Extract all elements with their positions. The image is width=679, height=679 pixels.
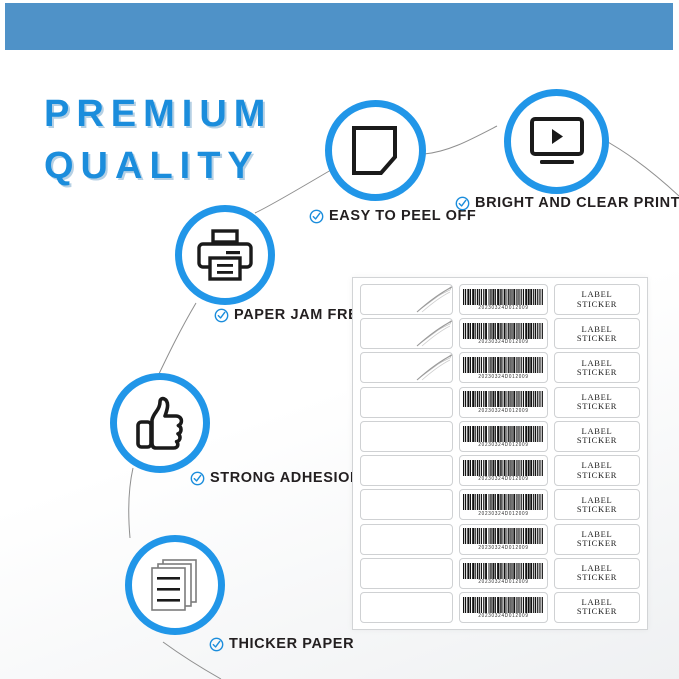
barcode-label-cell[interactable]: 20230324D012009	[459, 387, 548, 418]
barcode-image	[463, 494, 544, 510]
label-row: 20230324D012009LABELSTICKER	[360, 387, 640, 418]
blank-label-cell[interactable]	[360, 284, 453, 315]
barcode-number: 20230324D012009	[478, 613, 528, 619]
blank-label-cell[interactable]	[360, 421, 453, 452]
page-title: PREMIUM QUALITY	[44, 88, 374, 192]
peel-corner-icon	[406, 352, 452, 382]
blank-label-cell[interactable]	[360, 558, 453, 589]
blank-label-cell[interactable]	[360, 352, 453, 383]
check-circle-icon	[190, 471, 205, 486]
sticker-line-2: STICKER	[577, 436, 617, 445]
barcode-image	[463, 597, 544, 613]
barcode-number: 20230324D012009	[478, 579, 528, 585]
barcode-label-cell[interactable]: 20230324D012009	[459, 421, 548, 452]
infographic-canvas: PREMIUM QUALITY EASY TO PEEL OFF	[0, 0, 679, 679]
label-row: 20230324D012009LABELSTICKER	[360, 284, 640, 315]
barcode-number: 20230324D012009	[478, 544, 528, 550]
feature-circle-bright-and-clear-printing	[504, 89, 609, 194]
label-row: 20230324D012009LABELSTICKER	[360, 421, 640, 452]
barcode-number: 20230324D012009	[478, 476, 528, 482]
text-label-cell[interactable]: LABELSTICKER	[554, 352, 640, 383]
feature-circle-paper-jam-free	[175, 205, 275, 305]
label-row: 20230324D012009LABELSTICKER	[360, 592, 640, 623]
text-label-cell[interactable]: LABELSTICKER	[554, 284, 640, 315]
check-circle-icon	[209, 637, 224, 652]
text-label-cell[interactable]: LABELSTICKER	[554, 455, 640, 486]
feature-circle-strong-adhesion	[110, 373, 210, 473]
blank-label-cell[interactable]	[360, 455, 453, 486]
sticker-line-2: STICKER	[577, 607, 617, 616]
sticker-line-2: STICKER	[577, 573, 617, 582]
barcode-image	[463, 460, 544, 476]
check-circle-icon	[455, 196, 470, 211]
text-label-cell[interactable]: LABELSTICKER	[554, 387, 640, 418]
barcode-label-cell[interactable]: 20230324D012009	[459, 524, 548, 555]
peel-corner-icon	[406, 318, 452, 348]
text-label-cell[interactable]: LABELSTICKER	[554, 489, 640, 520]
thumbs-up-icon	[131, 396, 189, 450]
feature-circle-easy-to-peel-off	[325, 100, 426, 201]
barcode-number: 20230324D012009	[478, 339, 528, 345]
feature-label-text: PAPER JAM FREE	[234, 307, 369, 323]
barcode-image	[463, 323, 544, 339]
barcode-label-cell[interactable]: 20230324D012009	[459, 592, 548, 623]
blank-label-cell[interactable]	[360, 524, 453, 555]
peel-sticker-icon	[348, 123, 404, 179]
feature-label-easy-to-peel-off: EASY TO PEEL OFF	[309, 208, 476, 224]
feature-label-strong-adhesion: STRONG ADHESION	[190, 470, 361, 486]
feature-circle-thicker-paper	[125, 535, 225, 635]
check-circle-icon	[309, 209, 324, 224]
printer-icon	[195, 227, 255, 283]
label-row: 20230324D012009LABELSTICKER	[360, 318, 640, 349]
feature-label-thicker-paper: THICKER PAPER	[209, 636, 354, 652]
barcode-label-cell[interactable]: 20230324D012009	[459, 455, 548, 486]
blank-label-cell[interactable]	[360, 592, 453, 623]
sticker-line-2: STICKER	[577, 334, 617, 343]
barcode-label-cell[interactable]: 20230324D012009	[459, 489, 548, 520]
barcode-number: 20230324D012009	[478, 408, 528, 414]
blank-label-cell[interactable]	[360, 489, 453, 520]
sticker-line-2: STICKER	[577, 471, 617, 480]
sticker-line-2: STICKER	[577, 368, 617, 377]
peel-corner-icon	[406, 284, 452, 314]
label-row: 20230324D012009LABELSTICKER	[360, 352, 640, 383]
check-circle-icon	[214, 308, 229, 323]
label-row: 20230324D012009LABELSTICKER	[360, 455, 640, 486]
barcode-label-cell[interactable]: 20230324D012009	[459, 558, 548, 589]
label-row: 20230324D012009LABELSTICKER	[360, 524, 640, 555]
text-label-cell[interactable]: LABELSTICKER	[554, 592, 640, 623]
page-title-line-1: PREMIUM	[44, 88, 374, 140]
feature-label-paper-jam-free: PAPER JAM FREE	[214, 307, 369, 323]
feature-label-text: STRONG ADHESION	[210, 470, 361, 486]
sticker-line-2: STICKER	[577, 402, 617, 411]
text-label-cell[interactable]: LABELSTICKER	[554, 318, 640, 349]
sticker-line-2: STICKER	[577, 505, 617, 514]
monitor-play-icon	[527, 116, 587, 168]
text-label-cell[interactable]: LABELSTICKER	[554, 524, 640, 555]
feature-label-text: BRIGHT AND CLEAR PRINTING	[475, 195, 679, 211]
label-row: 20230324D012009LABELSTICKER	[360, 489, 640, 520]
blank-label-cell[interactable]	[360, 318, 453, 349]
barcode-number: 20230324D012009	[478, 442, 528, 448]
barcode-image	[463, 563, 544, 579]
barcode-label-cell[interactable]: 20230324D012009	[459, 352, 548, 383]
feature-label-bright-and-clear-printing: BRIGHT AND CLEAR PRINTING	[455, 195, 679, 211]
paper-stack-icon	[146, 557, 204, 613]
barcode-number: 20230324D012009	[478, 510, 528, 516]
barcode-label-cell[interactable]: 20230324D012009	[459, 284, 548, 315]
text-label-cell[interactable]: LABELSTICKER	[554, 421, 640, 452]
barcode-image	[463, 289, 544, 305]
barcode-image	[463, 426, 544, 442]
text-label-cell[interactable]: LABELSTICKER	[554, 558, 640, 589]
sticker-line-2: STICKER	[577, 539, 617, 548]
blank-label-cell[interactable]	[360, 387, 453, 418]
sticker-line-2: STICKER	[577, 300, 617, 309]
barcode-label-cell[interactable]: 20230324D012009	[459, 318, 548, 349]
barcode-image	[463, 528, 544, 544]
barcode-number: 20230324D012009	[478, 373, 528, 379]
top-banner	[5, 3, 673, 50]
barcode-image	[463, 357, 544, 373]
barcode-number: 20230324D012009	[478, 305, 528, 311]
label-row: 20230324D012009LABELSTICKER	[360, 558, 640, 589]
barcode-image	[463, 391, 544, 407]
label-sheet: 20230324D012009LABELSTICKER20230324D0120…	[352, 277, 648, 630]
feature-label-text: THICKER PAPER	[229, 636, 354, 652]
